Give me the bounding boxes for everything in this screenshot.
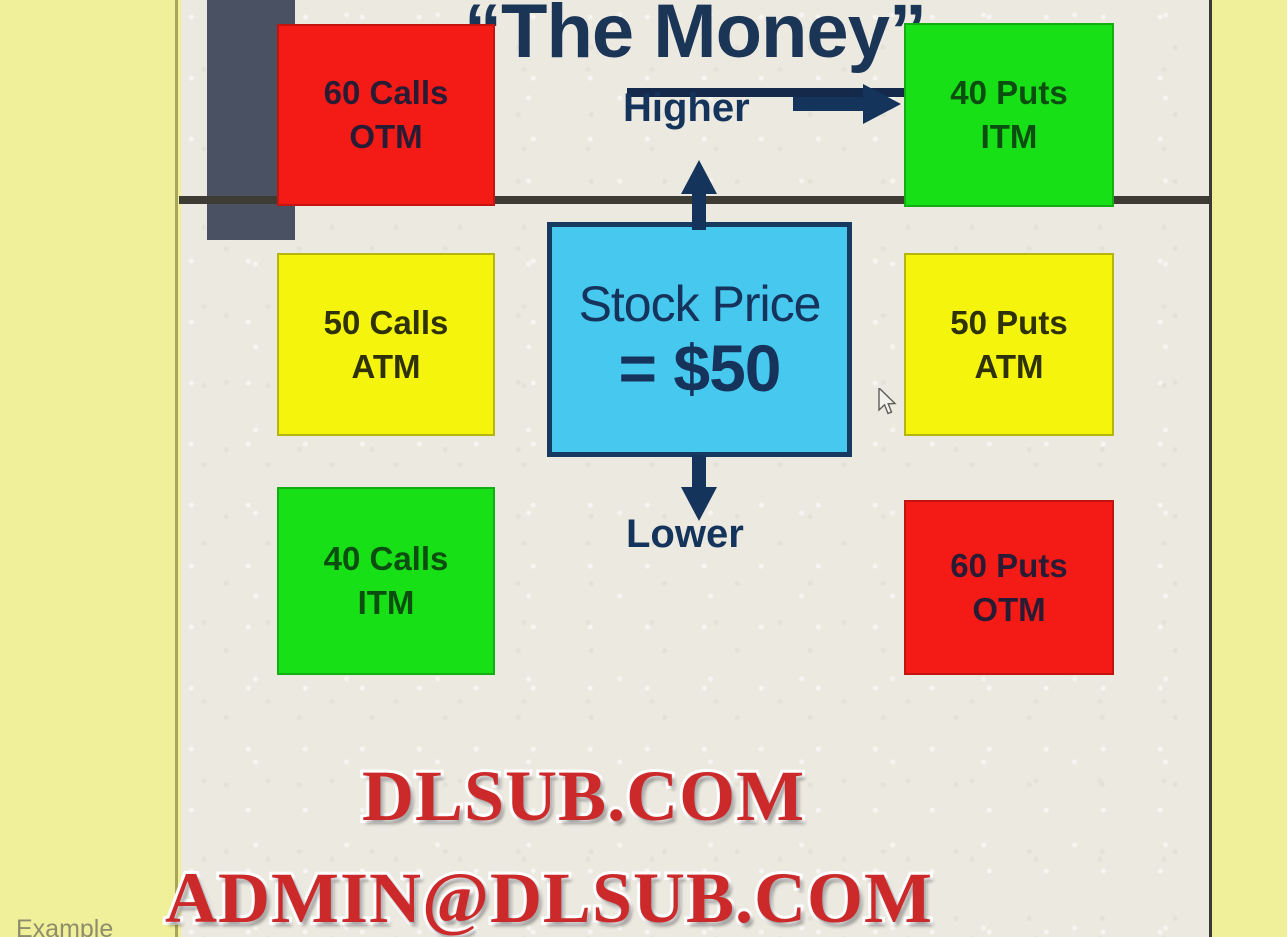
screenshot-stage: “The Money” 60 Calls OTM 50 Calls ATM 40… (0, 0, 1287, 937)
cell-line2: ITM (358, 581, 415, 625)
arrow-up-icon (679, 160, 719, 230)
stock-price-label: Stock Price (579, 279, 821, 329)
cell-line2: ATM (351, 345, 420, 389)
cell-line1: 40 Calls (324, 537, 449, 581)
arrow-right-icon (793, 82, 903, 126)
cell-line2: OTM (349, 115, 422, 159)
page-band-left (0, 0, 178, 937)
matrix-cell-50-calls-atm[interactable]: 50 Calls ATM (277, 253, 495, 436)
stock-price-box[interactable]: Stock Price = $50 (547, 222, 852, 457)
cell-line1: 40 Puts (950, 71, 1067, 115)
cell-line1: 50 Calls (324, 301, 449, 345)
watermark-email: ADMIN@DLSUB.COM (165, 857, 933, 937)
cell-line1: 50 Puts (950, 301, 1067, 345)
cell-line1: 60 Calls (324, 71, 449, 115)
matrix-cell-40-calls-itm[interactable]: 40 Calls ITM (277, 487, 495, 675)
page-band-right (1209, 0, 1287, 937)
matrix-cell-60-puts-otm[interactable]: 60 Puts OTM (904, 500, 1114, 675)
matrix-cell-50-puts-atm[interactable]: 50 Puts ATM (904, 253, 1114, 436)
caption-example: Example (16, 915, 113, 937)
cell-line2: ITM (981, 115, 1038, 159)
cell-line2: OTM (972, 588, 1045, 632)
matrix-cell-40-puts-itm[interactable]: 40 Puts ITM (904, 23, 1114, 207)
higher-label: Higher (623, 86, 750, 131)
matrix-cell-60-calls-otm[interactable]: 60 Calls OTM (277, 24, 495, 206)
cell-line1: 60 Puts (950, 544, 1067, 588)
mouse-cursor-icon (878, 388, 898, 416)
watermark-site: DLSUB.COM (362, 755, 805, 838)
stock-price-value: = $50 (619, 335, 781, 401)
arrow-down-icon (679, 455, 719, 521)
cell-line2: ATM (974, 345, 1043, 389)
